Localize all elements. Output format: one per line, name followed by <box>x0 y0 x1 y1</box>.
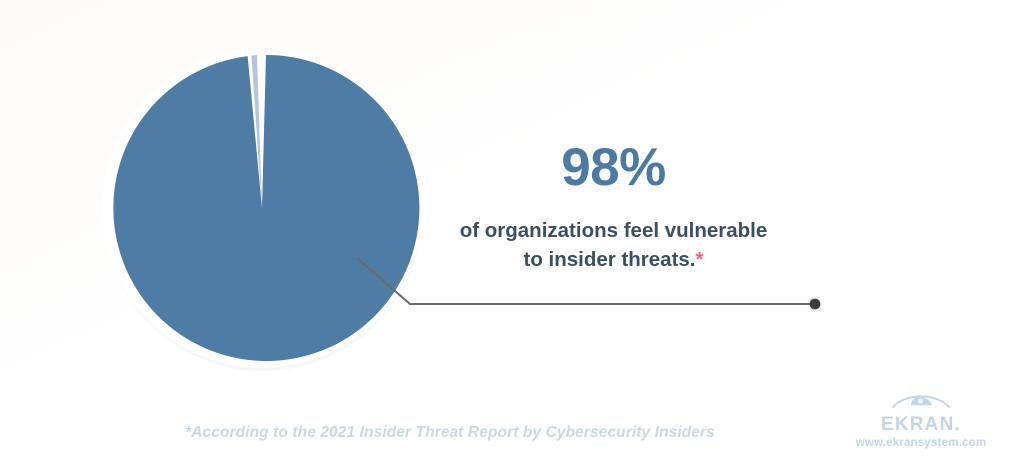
callout-body-line-2-wrap: to insider threats.* <box>421 245 806 274</box>
big-stat-percentage: 98% <box>421 141 806 194</box>
asterisk-marker: * <box>696 248 704 271</box>
infographic-canvas: 98% of organizations feel vulnerable to … <box>0 0 1024 473</box>
logo-wordmark: EKRAN. <box>833 415 1009 434</box>
leader-line-endpoint-dot <box>810 299 821 310</box>
brand-logo[interactable]: EKRAN. www.ekransystem.com <box>833 392 1009 450</box>
logo-url[interactable]: www.ekransystem.com <box>833 438 1009 450</box>
callout-block: 98% of organizations feel vulnerable to … <box>421 141 806 274</box>
callout-body: of organizations feel vulnerable to insi… <box>421 216 806 274</box>
source-footnote: *According to the 2021 Insider Threat Re… <box>150 424 750 442</box>
eye-icon <box>891 392 951 413</box>
callout-body-line-1: of organizations feel vulnerable <box>421 216 806 245</box>
callout-body-line-2: to insider threats. <box>524 248 696 271</box>
